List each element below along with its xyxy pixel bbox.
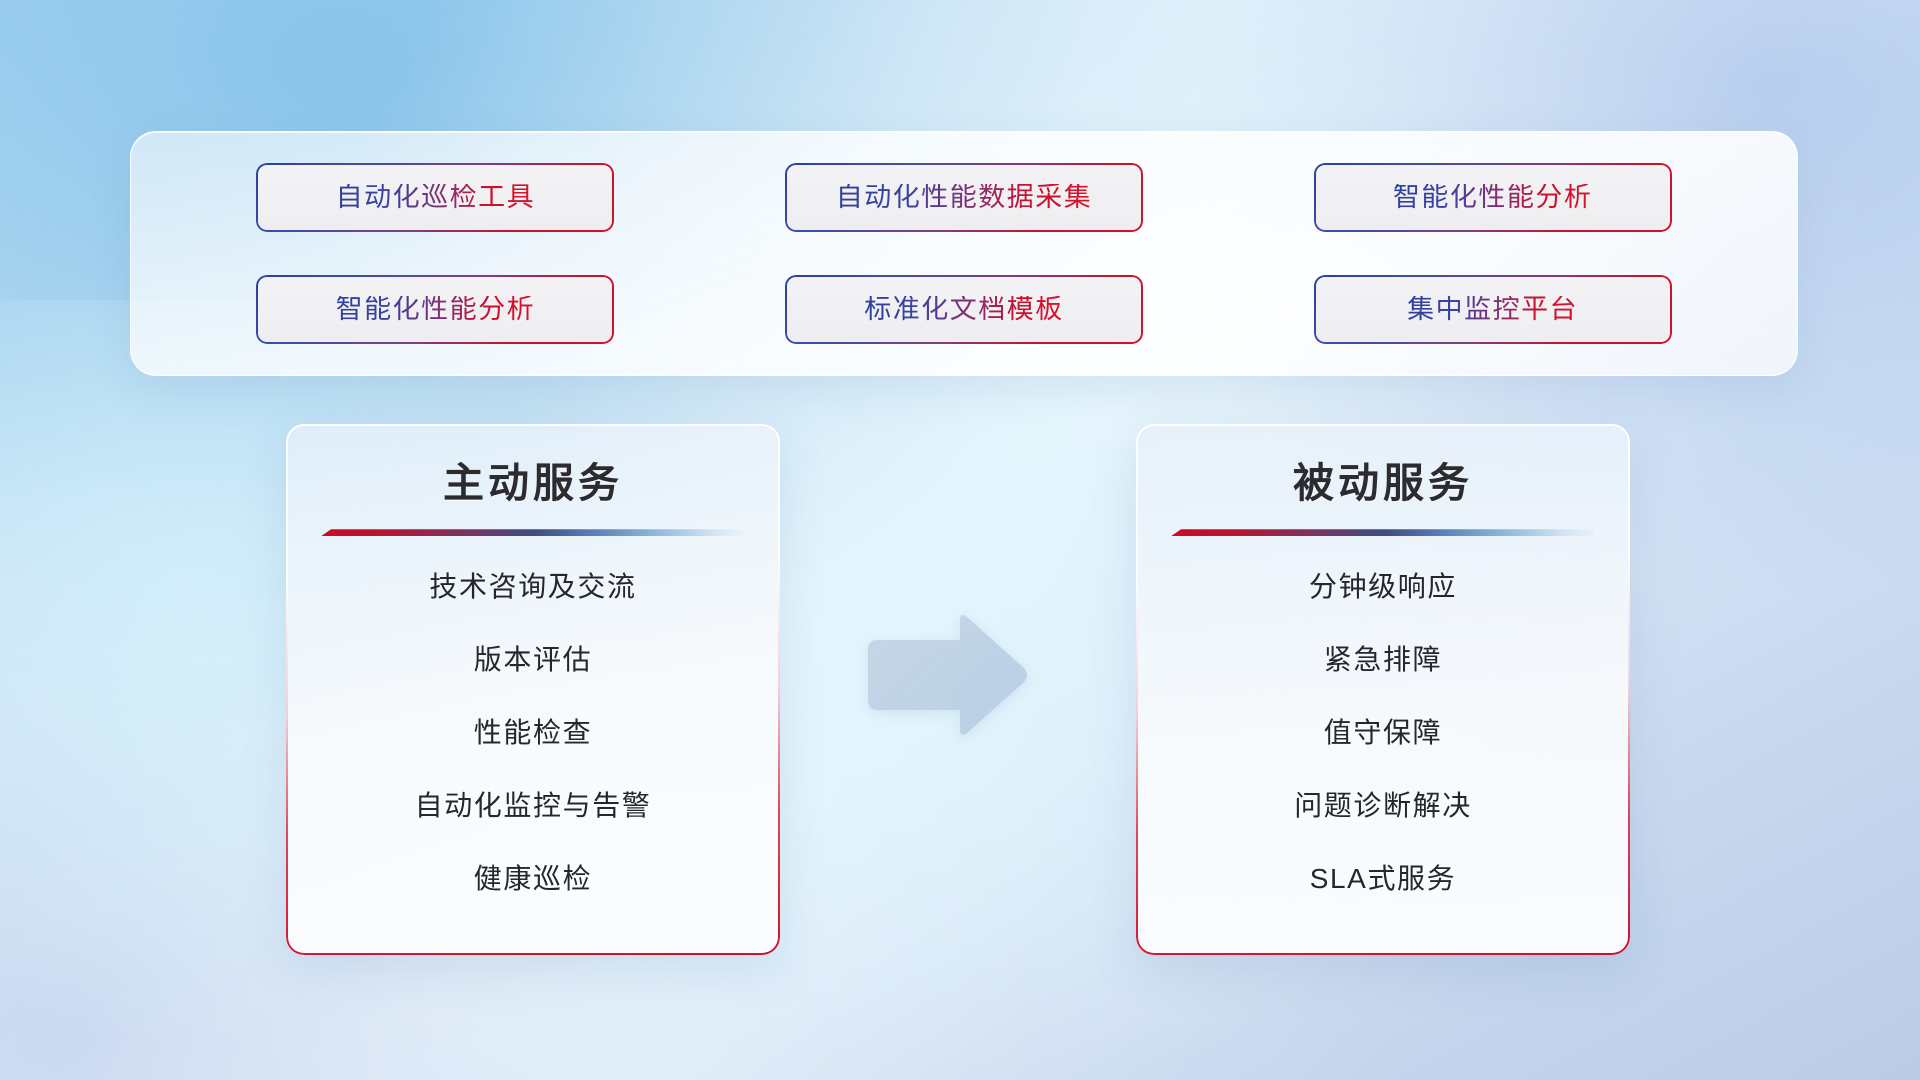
capability-pill-label: 自动化性能数据采集 xyxy=(836,184,1093,211)
service-list-item[interactable]: 性能检查 xyxy=(474,719,592,747)
capability-pill-6[interactable]: 集中监控平台 xyxy=(1314,275,1672,344)
capability-panel: 自动化巡检工具 自动化性能数据采集 智能化性能分析 智能化性能分析 标准化文档模… xyxy=(130,131,1798,376)
service-list-item[interactable]: 健康巡检 xyxy=(474,865,592,893)
capability-pill-4[interactable]: 智能化性能分析 xyxy=(256,275,614,344)
service-item-list: 分钟级响应 紧急排障 值守保障 问题诊断解决 SLA式服务 xyxy=(1136,573,1630,893)
service-list-item[interactable]: 版本评估 xyxy=(474,646,592,674)
capability-pill-3[interactable]: 智能化性能分析 xyxy=(1314,163,1672,232)
capability-pill-label: 自动化巡检工具 xyxy=(336,184,536,211)
service-item-list: 技术咨询及交流 版本评估 性能检查 自动化监控与告警 健康巡检 xyxy=(286,573,780,893)
title-divider xyxy=(1171,529,1595,536)
service-list-item[interactable]: 紧急排障 xyxy=(1324,646,1442,674)
capability-pill-2[interactable]: 自动化性能数据采集 xyxy=(785,163,1143,232)
service-list-item[interactable]: 技术咨询及交流 xyxy=(429,573,636,601)
service-card-proactive: 主动服务 技术咨询及交流 版本评估 性能检查 自动化监控与告警 健康巡检 xyxy=(286,424,780,955)
service-card-title: 被动服务 xyxy=(1293,458,1473,509)
service-list-item[interactable]: 值守保障 xyxy=(1324,719,1442,747)
arrow-right-icon xyxy=(862,610,1032,740)
service-card-title: 主动服务 xyxy=(443,458,623,509)
diagram-canvas: 自动化巡检工具 自动化性能数据采集 智能化性能分析 智能化性能分析 标准化文档模… xyxy=(0,0,1920,1080)
service-list-item[interactable]: 自动化监控与告警 xyxy=(415,792,652,820)
capability-pill-label: 集中监控平台 xyxy=(1407,296,1578,323)
capability-pill-1[interactable]: 自动化巡检工具 xyxy=(256,163,614,232)
service-list-item[interactable]: 问题诊断解决 xyxy=(1294,792,1472,820)
capability-pill-label: 标准化文档模板 xyxy=(864,296,1064,323)
title-divider xyxy=(321,529,745,536)
capability-pill-label: 智能化性能分析 xyxy=(1393,184,1593,211)
capability-pill-5[interactable]: 标准化文档模板 xyxy=(785,275,1143,344)
service-card-reactive: 被动服务 分钟级响应 紧急排障 值守保障 问题诊断解决 SLA式服务 xyxy=(1136,424,1630,955)
capability-pill-label: 智能化性能分析 xyxy=(336,296,536,323)
service-list-item[interactable]: 分钟级响应 xyxy=(1309,573,1457,601)
service-list-item[interactable]: SLA式服务 xyxy=(1310,865,1457,893)
